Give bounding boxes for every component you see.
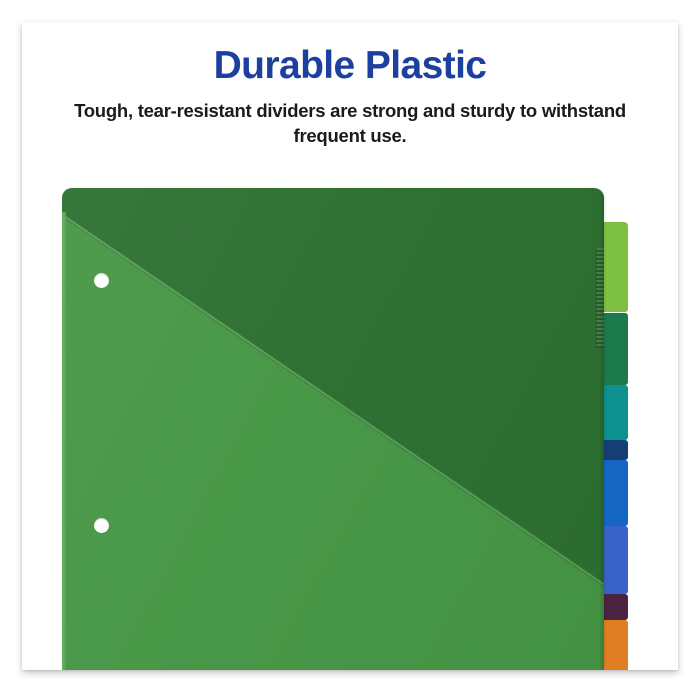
product-card: Durable Plastic Tough, tear-resistant di… — [22, 22, 678, 670]
screenshot-canvas: Durable Plastic Tough, tear-resistant di… — [0, 0, 700, 700]
divider-body — [62, 188, 604, 670]
pocket-left-edge — [62, 212, 66, 670]
tab-dark-green — [602, 313, 628, 385]
divider-right-edge — [599, 188, 604, 670]
punch-hole — [94, 273, 109, 288]
tab-teal — [602, 385, 628, 440]
tab-royal-blue — [602, 526, 628, 594]
pocket-front-panel — [62, 188, 604, 670]
divider-assembly — [22, 22, 678, 670]
tab-blue — [602, 460, 628, 526]
punch-hole — [94, 518, 109, 533]
tab-plum — [602, 594, 628, 620]
tab-light-green — [602, 222, 628, 312]
tab-orange — [602, 620, 628, 670]
tab-navy — [602, 440, 628, 460]
